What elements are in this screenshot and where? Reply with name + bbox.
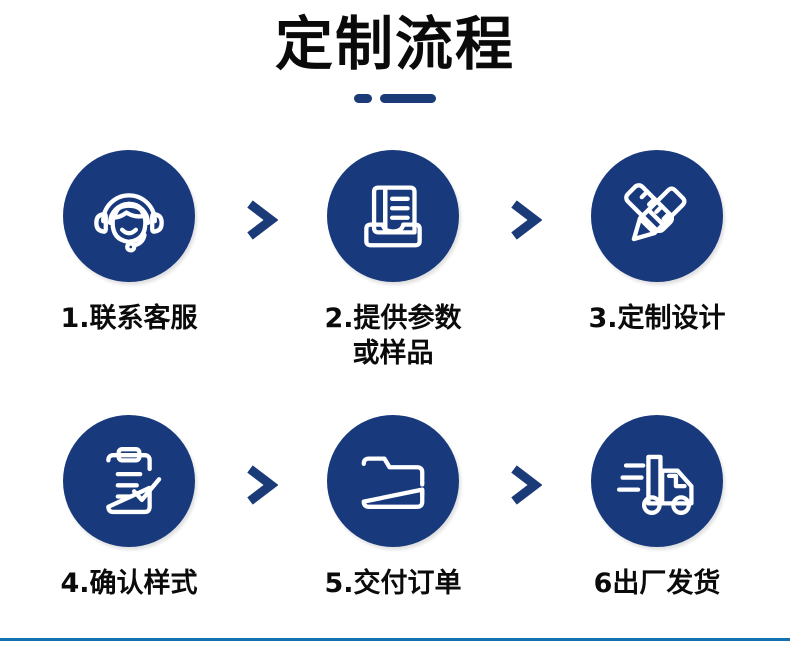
document-tray-icon <box>350 173 436 259</box>
step-1-icon-circle <box>63 150 195 282</box>
step-5-icon-circle <box>327 415 459 547</box>
divider-bar <box>380 94 436 103</box>
bottom-accent-rule <box>0 638 790 641</box>
step-2-label: 2.提供参数 或样品 <box>324 302 461 371</box>
process-row-2: 4.确认样式 5.交付订单 <box>0 415 790 615</box>
process-arrow-2 <box>493 198 557 242</box>
delivery-truck-icon <box>614 438 700 524</box>
step-3-label: 3.定制设计 <box>588 302 725 337</box>
process-step-4[interactable]: 4.确认样式 <box>29 415 229 602</box>
customization-process-banner: 定制流程 <box>0 0 790 646</box>
step-6-icon-circle <box>591 415 723 547</box>
process-arrow-1 <box>229 198 293 242</box>
step-4-label: 4.确认样式 <box>60 567 197 602</box>
process-arrow-3 <box>229 463 293 507</box>
chevron-right-icon <box>508 198 542 242</box>
step-6-label: 6出厂发货 <box>594 567 721 602</box>
process-step-2[interactable]: 2.提供参数 或样品 <box>293 150 493 371</box>
divider-dot <box>354 94 372 103</box>
step-3-icon-circle <box>591 150 723 282</box>
process-step-5[interactable]: 5.交付订单 <box>293 415 493 602</box>
process-arrow-4 <box>493 463 557 507</box>
page-title: 定制流程 <box>0 0 790 75</box>
pencil-ruler-icon <box>614 173 700 259</box>
chevron-right-icon <box>508 463 542 507</box>
step-1-label: 1.联系客服 <box>60 302 197 337</box>
process-step-1[interactable]: 1.联系客服 <box>29 150 229 337</box>
step-2-icon-circle <box>327 150 459 282</box>
process-row-1: 1.联系客服 <box>0 150 790 415</box>
chevron-right-icon <box>244 198 278 242</box>
process-step-3[interactable]: 3.定制设计 <box>557 150 757 337</box>
header: 定制流程 <box>0 0 790 105</box>
step-5-label: 5.交付订单 <box>324 567 461 602</box>
folder-icon <box>350 438 436 524</box>
title-divider <box>0 93 790 105</box>
headset-support-icon <box>86 173 172 259</box>
process-steps: 1.联系客服 <box>0 150 790 615</box>
chevron-right-icon <box>244 463 278 507</box>
step-4-icon-circle <box>63 415 195 547</box>
process-step-6[interactable]: 6出厂发货 <box>557 415 757 602</box>
clipboard-check-icon <box>86 438 172 524</box>
